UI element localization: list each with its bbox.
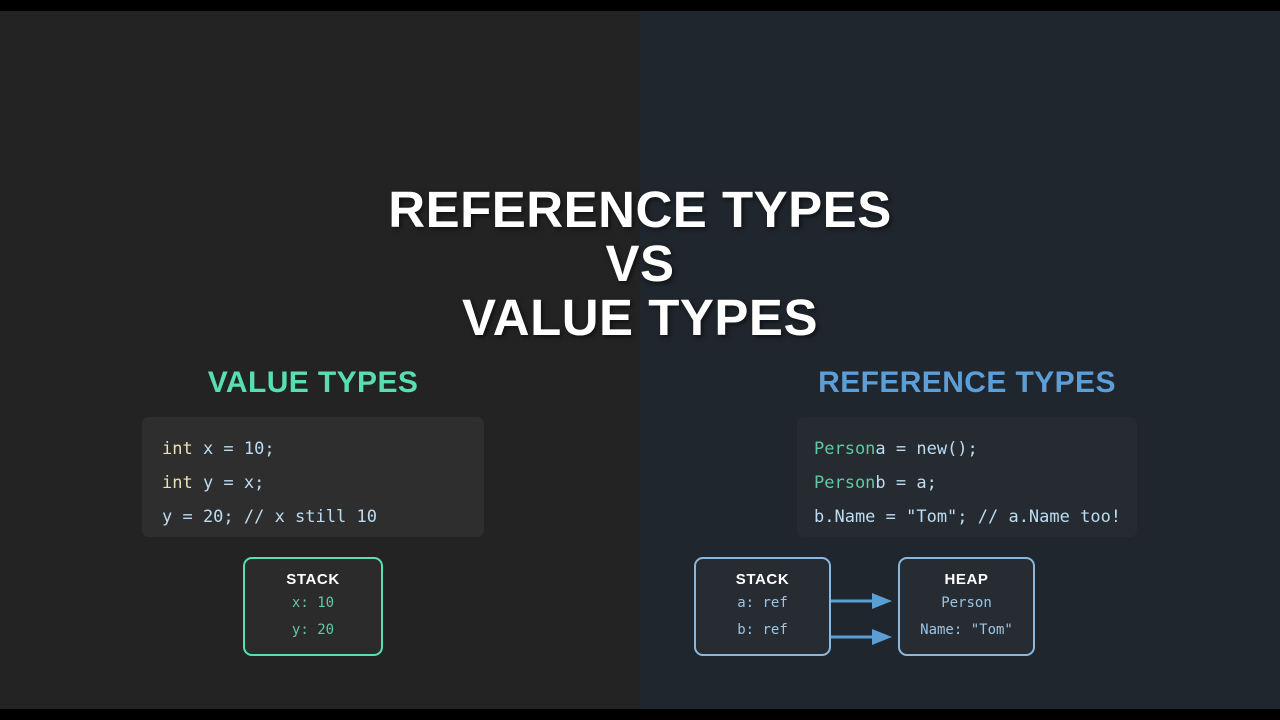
code-line-2: Personb = a; — [814, 466, 1137, 500]
title-line-value-types: VALUE TYPES — [0, 291, 1280, 345]
code-line-1: int x = 10; — [162, 432, 484, 466]
memory-box-title: STACK — [696, 570, 829, 590]
memory-row-person: Person — [900, 590, 1033, 617]
title-line-reference-types: REFERENCE TYPES — [0, 183, 1280, 237]
memory-box-title: HEAP — [900, 570, 1033, 590]
code-keyword-int: int — [162, 439, 193, 459]
title-line-vs: VS — [0, 237, 1280, 291]
code-block-reference-types: Persona = new(); Personb = a; b.Name = "… — [797, 417, 1137, 537]
letterbox-bar-top — [0, 0, 1280, 11]
code-line-3: b.Name = "Tom"; // a.Name too! — [814, 500, 1137, 534]
code-keyword-int: int — [162, 473, 193, 493]
memory-box-title: STACK — [245, 570, 381, 590]
memory-row-y: y: 20 — [245, 617, 381, 644]
reference-arrows — [826, 590, 904, 650]
code-type-person: Person — [814, 473, 875, 493]
memory-row-name: Name: "Tom" — [900, 617, 1033, 644]
memory-box-stack-right: STACK a: ref b: ref — [694, 557, 831, 656]
slide-canvas: REFERENCE TYPES VS VALUE TYPES VALUE TYP… — [0, 0, 1280, 720]
code-block-value-types: int x = 10; int y = x; y = 20; // x stil… — [142, 417, 484, 537]
code-type-person: Person — [814, 439, 875, 459]
memory-box-stack-left: STACK x: 10 y: 20 — [243, 557, 383, 656]
code-text: a = new(); — [875, 439, 977, 459]
code-line-2: int y = x; — [162, 466, 484, 500]
memory-row-x: x: 10 — [245, 590, 381, 617]
code-text: x = 10; — [193, 439, 275, 459]
memory-box-heap: HEAP Person Name: "Tom" — [898, 557, 1035, 656]
heading-reference-types: REFERENCE TYPES — [797, 366, 1137, 400]
slide-title: REFERENCE TYPES VS VALUE TYPES — [0, 183, 1280, 345]
memory-row-a: a: ref — [696, 590, 829, 617]
heading-value-types: VALUE TYPES — [142, 366, 484, 400]
code-line-1: Persona = new(); — [814, 432, 1137, 466]
letterbox-bar-bottom — [0, 709, 1280, 720]
code-line-3: y = 20; // x still 10 — [162, 500, 484, 534]
code-text: y = x; — [193, 473, 265, 493]
code-text: b.Name = "Tom"; // a.Name too! — [814, 507, 1121, 527]
memory-row-b: b: ref — [696, 617, 829, 644]
code-text: y = 20; // x still 10 — [162, 507, 377, 527]
code-text: b = a; — [875, 473, 936, 493]
